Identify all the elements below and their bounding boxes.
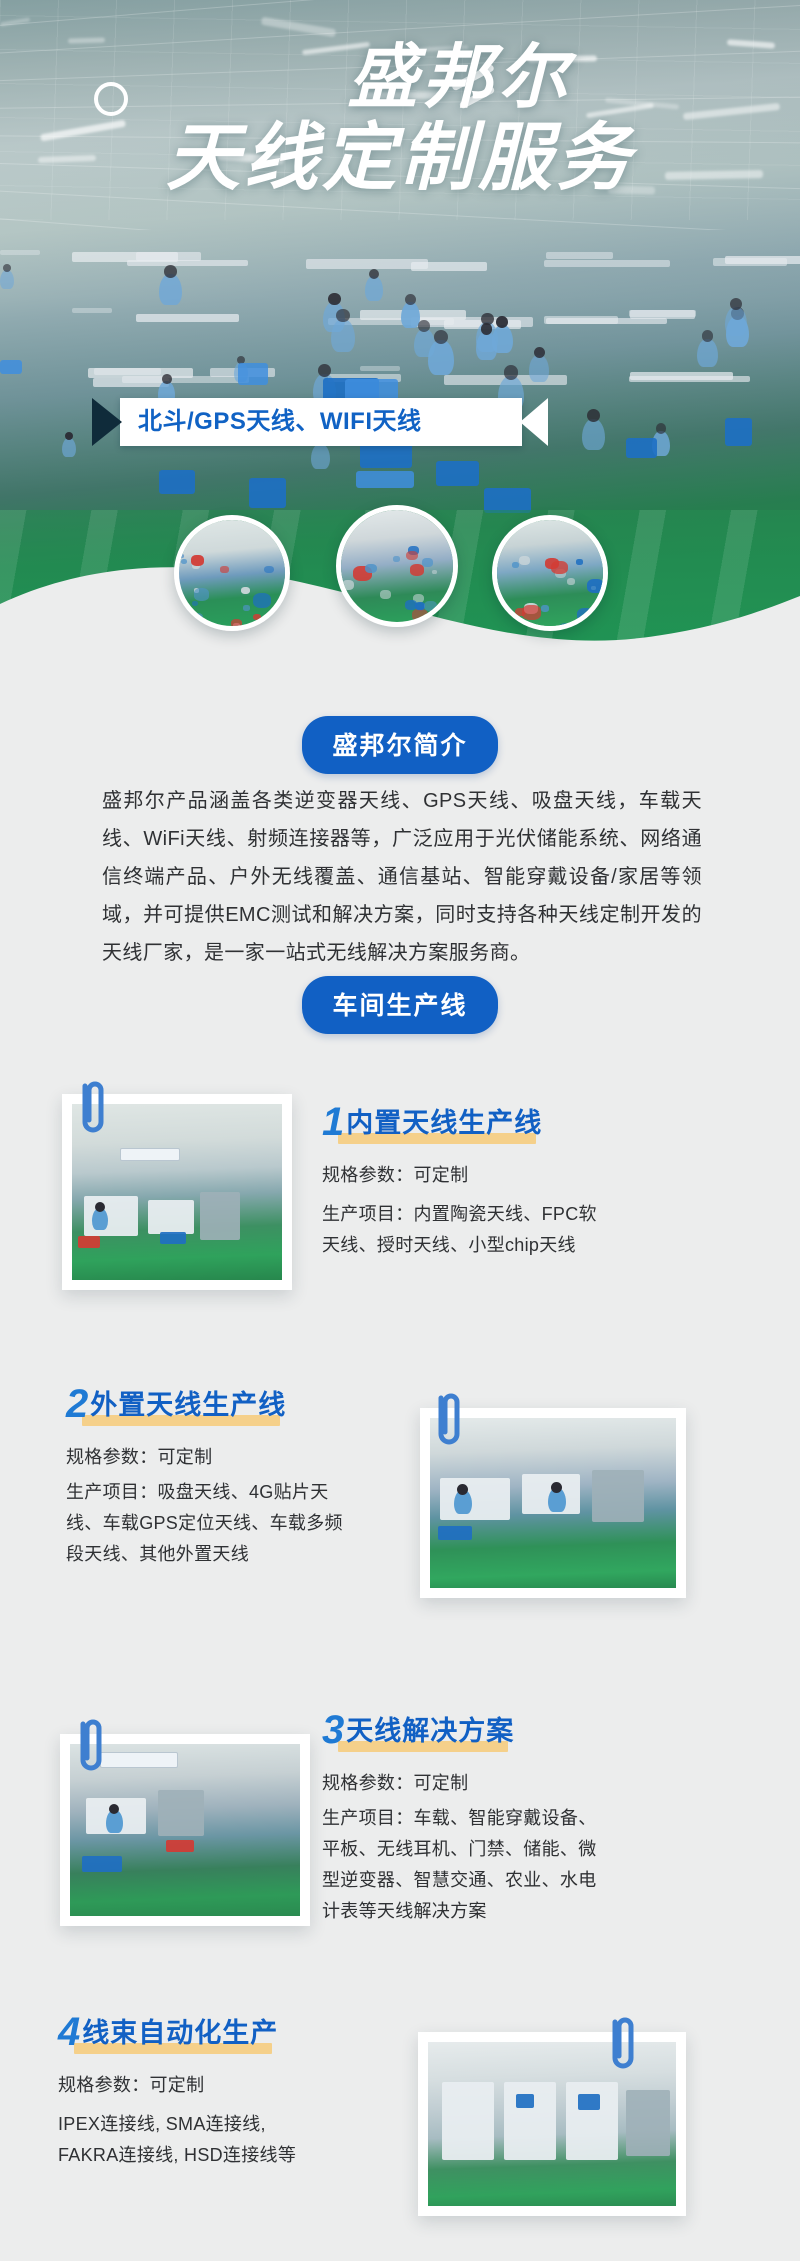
line-1-title: 内置天线生产线 xyxy=(346,1108,542,1138)
line-1-number: 1 xyxy=(322,1100,346,1144)
line-4-heading: 4线束自动化生产 xyxy=(58,2010,278,2055)
hero-subtitle: 天线定制服务 xyxy=(0,118,800,199)
line-2-body: 生产项目：吸盘天线、4G贴片天线、车载GPS定位天线、车载多频段天线、其他外置天… xyxy=(66,1477,356,1570)
production-line-item-3: 3天线解决方案 规格参数：可定制 生产项目：车载、智能穿戴设备、平板、无线耳机、… xyxy=(0,1700,800,1930)
paperclip-icon xyxy=(74,1078,112,1140)
line-1-heading: 1内置天线生产线 xyxy=(322,1100,542,1145)
line-4-text: 4线束自动化生产 规格参数：可定制 IPEX连接线, SMA连接线, FAKRA… xyxy=(58,2010,368,2171)
line-2-number: 2 xyxy=(66,1382,90,1426)
line-2-title: 外置天线生产线 xyxy=(90,1390,286,1420)
brand-title: 盛邦尔 xyxy=(0,40,800,114)
intro-heading: 盛邦尔简介 xyxy=(302,716,497,774)
line-1-text: 1内置天线生产线 规格参数：可定制 生产项目：内置陶瓷天线、FPC软天线、授时天… xyxy=(322,1100,622,1261)
production-line-item-2: 2外置天线生产线 规格参数：可定制 生产项目：吸盘天线、4G贴片天线、车载GPS… xyxy=(0,1368,800,1598)
thumbnail-row xyxy=(0,505,800,655)
thumbnail-photo-2 xyxy=(336,505,458,627)
production-lines-heading-row: 车间生产线 xyxy=(0,976,800,1034)
line-4-spec: 规格参数：可定制 xyxy=(58,2071,368,2097)
line-2-text: 2外置天线生产线 规格参数：可定制 生产项目：吸盘天线、4G贴片天线、车载GPS… xyxy=(66,1382,366,1570)
line-4-photo xyxy=(418,2032,686,2216)
production-line-item-4: 4线束自动化生产 规格参数：可定制 IPEX连接线, SMA连接线, FAKRA… xyxy=(0,1996,800,2226)
line-4-number: 4 xyxy=(58,2010,82,2054)
line-3-text: 3天线解决方案 规格参数：可定制 生产项目：车载、智能穿戴设备、平板、无线耳机、… xyxy=(322,1708,622,1927)
paperclip-icon xyxy=(72,1716,110,1778)
line-4-title: 线束自动化生产 xyxy=(82,2018,278,2048)
infographic-page: 盛邦尔 天线定制服务 北斗/GPS天线、WIFI天线 盛邦尔简介 盛邦尔产品涵盖… xyxy=(0,0,800,2261)
paperclip-icon xyxy=(430,1390,468,1452)
line-3-heading: 3天线解决方案 xyxy=(322,1708,514,1753)
line-4-body: IPEX连接线, SMA连接线, FAKRA连接线, HSD连接线等 xyxy=(58,2109,318,2171)
production-lines-heading: 车间生产线 xyxy=(302,976,497,1034)
line-3-title: 天线解决方案 xyxy=(346,1716,514,1746)
ribbon-right-arrow-icon xyxy=(520,398,548,446)
paperclip-icon xyxy=(604,2014,642,2076)
line-3-body: 生产项目：车载、智能穿戴设备、平板、无线耳机、门禁、储能、微型逆变器、智慧交通、… xyxy=(322,1803,614,1927)
line-3-spec: 规格参数：可定制 xyxy=(322,1769,622,1795)
line-2-spec: 规格参数：可定制 xyxy=(66,1443,366,1469)
intro-paragraph: 盛邦尔产品涵盖各类逆变器天线、GPS天线、吸盘天线，车载天线、WiFi天线、射频… xyxy=(102,782,702,972)
thumbnail-photo-3 xyxy=(492,515,608,631)
hero-ribbon: 北斗/GPS天线、WIFI天线 xyxy=(92,398,522,446)
production-line-item-1: 1内置天线生产线 规格参数：可定制 生产项目：内置陶瓷天线、FPC软天线、授时天… xyxy=(0,1084,800,1314)
intro-heading-row: 盛邦尔简介 xyxy=(0,716,800,774)
hero-title-block: 盛邦尔 天线定制服务 xyxy=(0,40,800,200)
ribbon-label: 北斗/GPS天线、WIFI天线 xyxy=(138,398,422,446)
line-3-number: 3 xyxy=(322,1708,346,1752)
thumbnail-photo-1 xyxy=(174,515,290,631)
line-1-body: 生产项目：内置陶瓷天线、FPC软天线、授时天线、小型chip天线 xyxy=(322,1199,608,1261)
ribbon-left-arrow-icon xyxy=(92,398,122,446)
line-1-spec: 规格参数：可定制 xyxy=(322,1161,622,1187)
line-2-heading: 2外置天线生产线 xyxy=(66,1382,286,1427)
